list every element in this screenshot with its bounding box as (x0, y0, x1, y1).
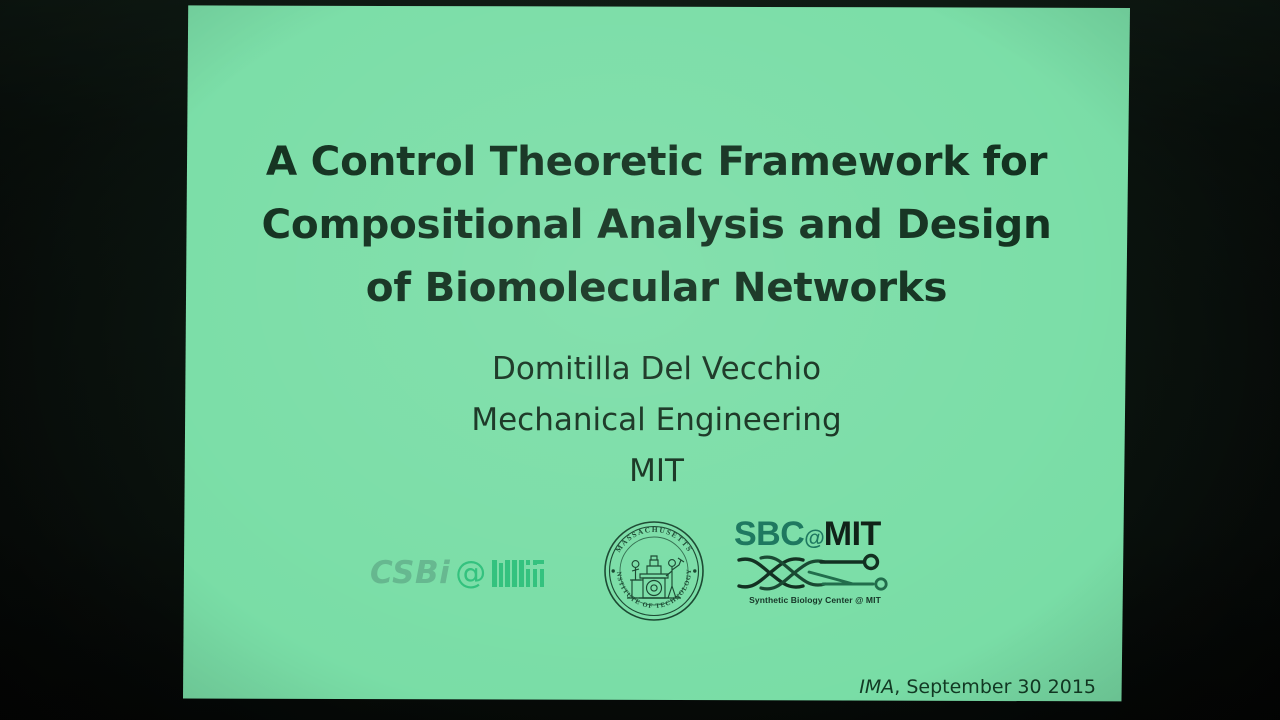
csbi-at-symbol: @ (455, 558, 486, 589)
slide-content: A Control Theoretic Framework for Compos… (183, 4, 1130, 720)
camera-frame: A Control Theoretic Framework for Compos… (0, 0, 1280, 720)
footer-date: , September 30 2015 (894, 676, 1096, 698)
author-institution: MIT (183, 446, 1130, 497)
sbc-at-symbol: @ (804, 527, 823, 550)
sbc-text-sbc: SBC (734, 515, 804, 553)
mit-seal-logo: MASSACHUSETTS INSTITUTE OF TECHNOLOGY (601, 518, 707, 624)
svg-text:MASSACHUSETTS: MASSACHUSETTS (613, 525, 694, 554)
mit-barcode-logo-icon (492, 560, 550, 587)
slide-footer: IMA, September 30 2015 (859, 676, 1096, 698)
title-line-3: of Biomolecular Networks (183, 256, 1130, 319)
footer-venue: IMA (859, 676, 894, 698)
seal-arc-top: MASSACHUSETTS (613, 525, 694, 554)
sbc-tagline: Synthetic Biology Center @ MIT (735, 595, 895, 605)
logo-row: CSBi @ (183, 512, 1130, 630)
dna-helix-circuit-icon (731, 552, 896, 594)
sbc-mit-logo: SBC@MIT (731, 516, 899, 626)
sbc-text-mit: MIT (824, 515, 881, 553)
slide-title: A Control Theoretic Framework for Compos… (183, 130, 1130, 319)
author-department: Mechanical Engineering (183, 395, 1130, 446)
author-name: Domitilla Del Vecchio (183, 344, 1130, 395)
title-line-1: A Control Theoretic Framework for (183, 130, 1130, 193)
csbi-mit-logo: CSBi @ (370, 553, 550, 593)
csbi-wordmark: CSBi (370, 555, 450, 591)
projected-slide: A Control Theoretic Framework for Compos… (183, 4, 1130, 720)
sbc-wordmark: SBC@MIT (734, 516, 881, 557)
title-line-2: Compositional Analysis and Design (183, 193, 1130, 256)
slide-author-block: Domitilla Del Vecchio Mechanical Enginee… (183, 344, 1130, 497)
